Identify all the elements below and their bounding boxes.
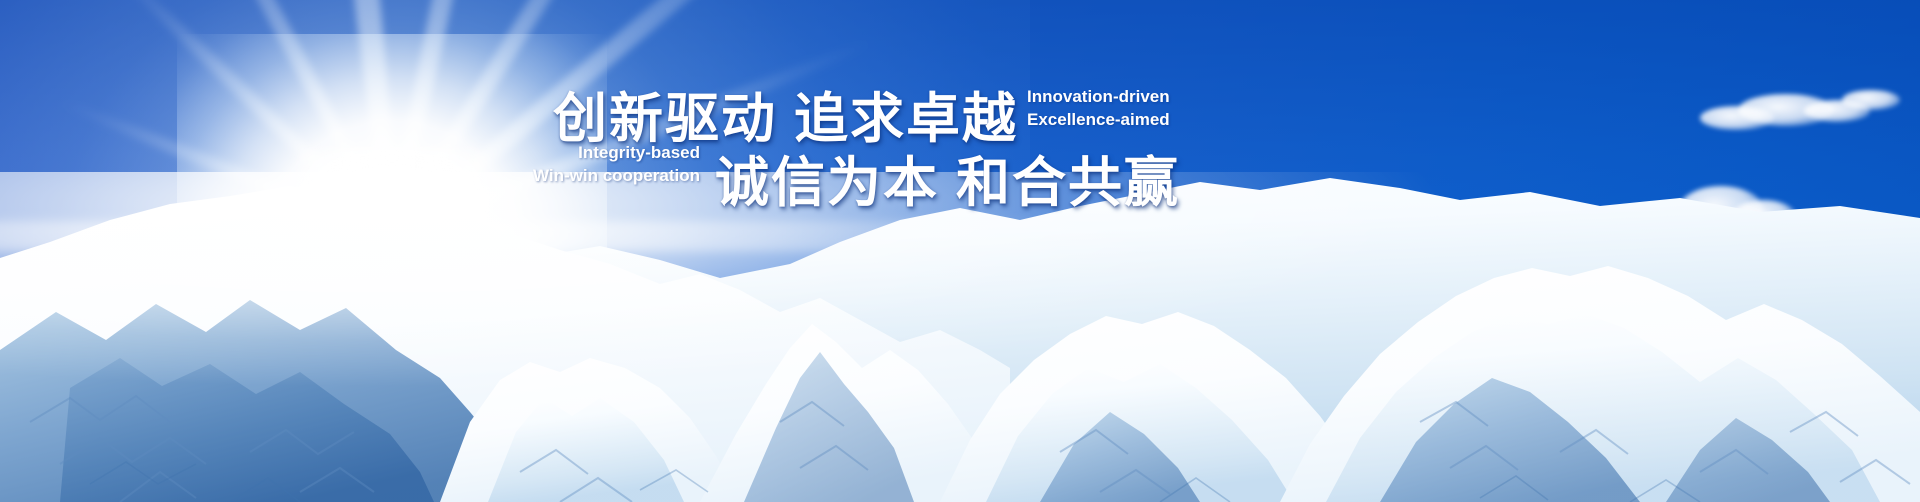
slogan-english-left-line-1: Integrity-based — [533, 142, 700, 165]
slogan-english-left: Integrity-based Win-win cooperation — [533, 142, 700, 188]
slogan-chinese-secondary: 诚信为本 和合共赢 — [715, 138, 1180, 217]
slogan-english-right-line-1: Innovation-driven — [1027, 86, 1170, 109]
hero-banner: 创新驱动 追求卓越 Innovation-driven Excellence-a… — [0, 0, 1920, 502]
slogan-english-left-line-2: Win-win cooperation — [533, 165, 700, 188]
slogan-english-right: Innovation-driven Excellence-aimed — [1027, 86, 1170, 132]
slogan-text-layer: 创新驱动 追求卓越 Innovation-driven Excellence-a… — [0, 0, 1920, 502]
slogan-english-right-line-2: Excellence-aimed — [1027, 109, 1170, 132]
